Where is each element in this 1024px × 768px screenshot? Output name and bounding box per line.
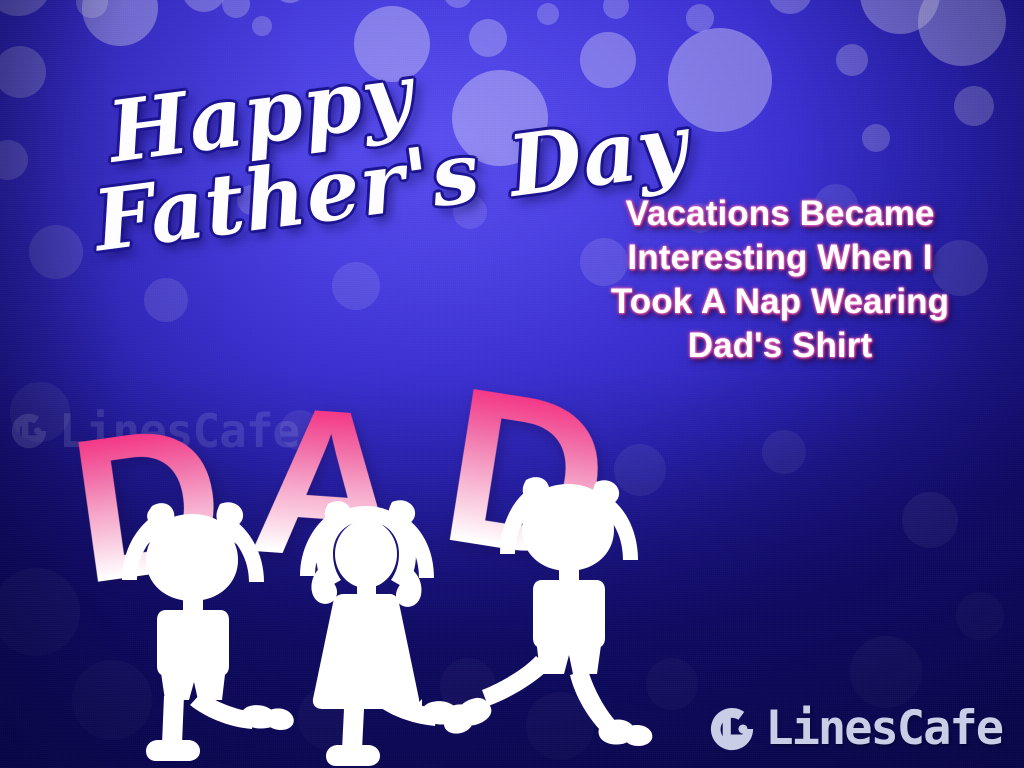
linescafe-logo[interactable]: LinesCafe — [705, 701, 1002, 756]
logo-text: LinesCafe — [765, 701, 1002, 756]
fathers-day-greeting-card: LinesCafe Happy Father's Day Vacations B… — [0, 0, 1024, 768]
background-noise-texture — [0, 0, 1024, 768]
logo-lc-circle-mark — [705, 702, 759, 756]
